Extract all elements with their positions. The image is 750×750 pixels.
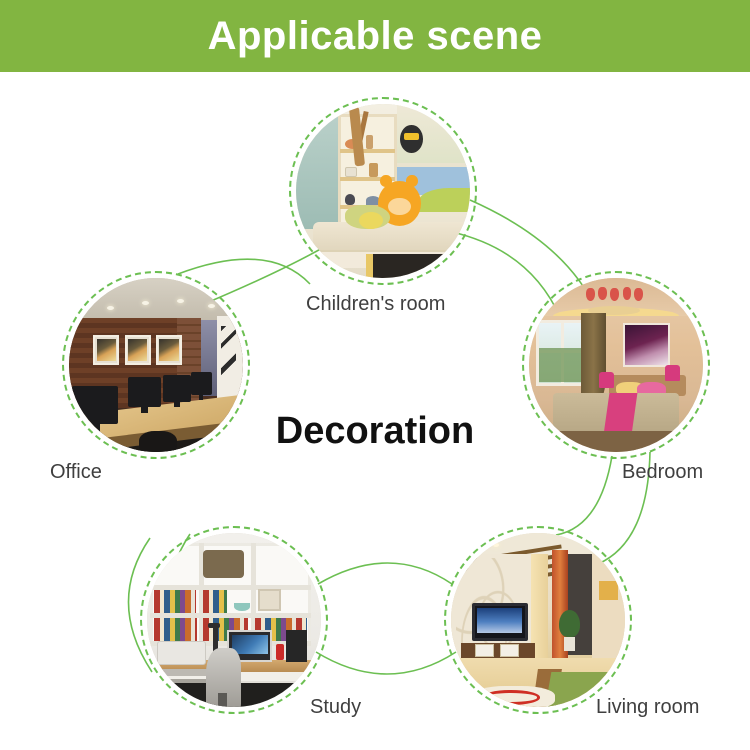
label-office: Office [50,462,102,482]
scene-diagram: Decoration [0,72,750,750]
header-banner: Applicable scene [0,0,750,72]
node-children-room[interactable] [296,104,470,278]
node-living-room[interactable] [451,533,625,707]
photo-bedroom [529,278,703,452]
photo-study [147,533,321,707]
scene-office-illustration [69,278,243,452]
scene-children-room-illustration [296,104,470,278]
label-children-room: Children's room [306,294,445,314]
photo-living-room [451,533,625,707]
node-office[interactable] [69,278,243,452]
node-study[interactable] [147,533,321,707]
applicable-scene-infographic: Applicable scene [0,0,750,750]
photo-children-room [296,104,470,278]
node-bedroom[interactable] [529,278,703,452]
scene-living-room-illustration [451,533,625,707]
photo-office [69,278,243,452]
scene-bedroom-illustration [529,278,703,452]
scene-study-illustration [147,533,321,707]
page-title: Applicable scene [208,16,543,56]
label-living-room: Living room [596,697,699,717]
label-study: Study [310,697,361,717]
label-bedroom: Bedroom [622,462,703,482]
